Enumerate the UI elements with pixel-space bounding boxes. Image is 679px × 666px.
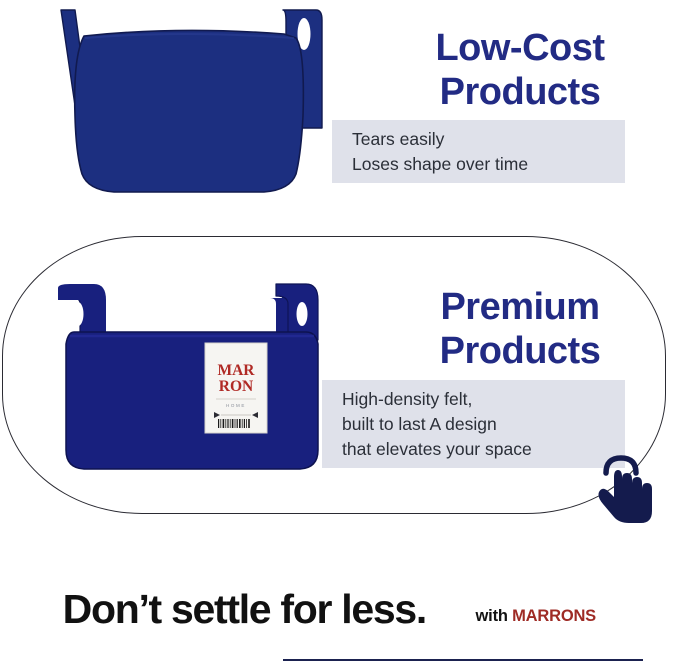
premium-info-band: High-density felt, built to last A desig… <box>322 380 625 468</box>
tagline-underline <box>283 659 643 661</box>
premium-heading-line1: Premium <box>370 285 670 329</box>
brand-name: MARRONS <box>512 607 596 625</box>
premium-heading: Premium Products <box>370 285 670 373</box>
low-cost-heading-line2: Products <box>370 70 670 114</box>
brand-tag-line1: MAR <box>217 362 255 379</box>
tap-hand-icon[interactable] <box>592 449 668 525</box>
tagline-row-2: Bring home one that endures. <box>36 650 656 666</box>
premium-heading-line2: Products <box>370 329 670 373</box>
with-label: with <box>476 607 513 625</box>
tagline-line-1: Don’t settle for less. <box>63 586 426 632</box>
premium-bullet-3: that elevates your space <box>322 437 625 462</box>
brand-tag: MAR RON HOME <box>204 342 268 434</box>
premium-bullet-2: built to last A design <box>322 412 625 437</box>
brand-attribution: with MARRONS <box>458 588 596 645</box>
low-cost-heading: Low-Cost Products <box>370 26 670 114</box>
premium-bullet-1: High-density felt, <box>322 387 625 412</box>
brand-tag-sub: HOME <box>226 403 246 408</box>
infographic-canvas: Low-Cost Products Tears easily Loses sha… <box>0 0 679 666</box>
premium-product-image: MAR RON HOME <box>44 282 344 482</box>
low-cost-bullet-1: Tears easily <box>332 127 625 152</box>
low-cost-heading-line1: Low-Cost <box>370 26 670 70</box>
low-cost-bullet-2: Loses shape over time <box>332 152 625 177</box>
brand-tag-line2: RON <box>219 378 253 395</box>
low-cost-product-image <box>28 4 338 200</box>
low-cost-info-band: Tears easily Loses shape over time <box>332 120 625 183</box>
